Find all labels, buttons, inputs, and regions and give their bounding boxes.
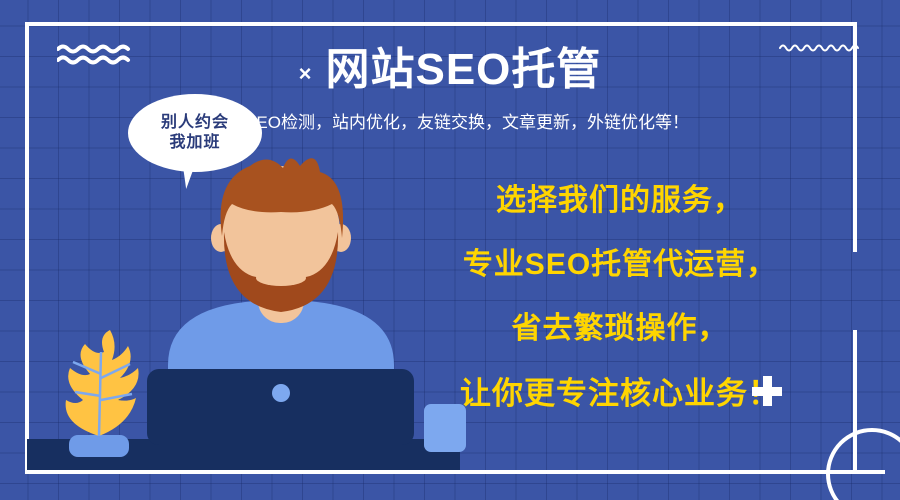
frame-right-line-upper: [853, 22, 857, 252]
copy-line-2: 专业SEO托管代运营，: [410, 250, 830, 280]
corner-circle-decoration: [826, 428, 900, 500]
person-at-desk-illustration: [0, 0, 460, 500]
copy-line-3: 省去繁琐操作，: [410, 314, 830, 344]
mouth-shape: [256, 270, 306, 286]
laptop-shape: [147, 369, 414, 445]
wave-single-icon: [779, 41, 859, 53]
laptop-logo-icon: [272, 384, 290, 402]
ear-left: [211, 224, 231, 252]
seo-promo-banner: × 网站SEO托管 含：SEO检测，站内优化，友链交换，文章更新，外链优化等！ …: [0, 0, 900, 500]
plus-icon: [752, 376, 782, 406]
copy-line-1: 选择我们的服务，: [410, 186, 830, 216]
text-highlight-box: [424, 404, 466, 452]
plant-pot: [69, 435, 129, 457]
plant-leaf: [66, 330, 139, 436]
